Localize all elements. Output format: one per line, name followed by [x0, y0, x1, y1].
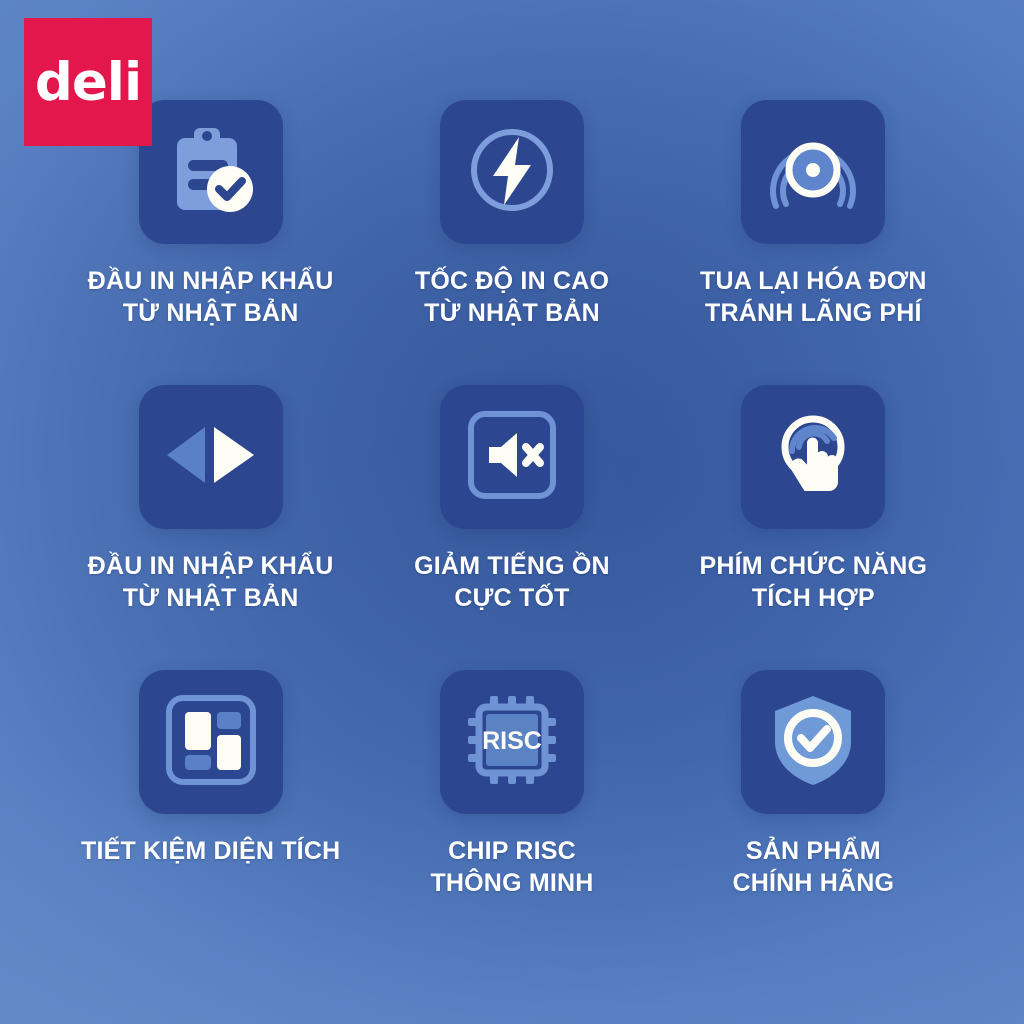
feature-item-print-speed: TỐC ĐỘ IN CAO TỪ NHẬT BẢN	[361, 100, 662, 385]
clipboard-check-icon	[161, 120, 261, 225]
feature-item-bidirectional: ĐẦU IN NHẬP KHẨU TỪ NHẬT BẢN	[60, 385, 361, 670]
feature-item-genuine-product: SẢN PHẨM CHÍNH HÃNG	[663, 670, 964, 955]
feature-icon-tile: RISC	[440, 670, 584, 814]
risc-chip-icon: RISC	[462, 690, 562, 795]
feature-icon-tile	[741, 670, 885, 814]
hand-tap-icon	[763, 405, 863, 510]
speaker-mute-icon	[462, 405, 562, 510]
lightning-bolt-icon	[462, 120, 562, 225]
layout-blocks-icon	[161, 690, 261, 795]
feature-icon-tile	[440, 385, 584, 529]
feature-label: GIẢM TIẾNG ỒN CỰC TỐT	[414, 550, 610, 614]
feature-item-receipt-rewind: TUA LẠI HÓA ĐƠN TRÁNH LÃNG PHÍ	[663, 100, 964, 385]
feature-poster: deli ĐẦU IN NHẬP KHẨU TỪ NHẬT B	[0, 0, 1024, 1024]
bidirectional-arrows-icon	[161, 405, 261, 510]
feature-label: ĐẦU IN NHẬP KHẨU TỪ NHẬT BẢN	[88, 265, 334, 329]
feature-item-space-saving: TIẾT KIỆM DIỆN TÍCH	[60, 670, 361, 955]
feature-item-low-noise: GIẢM TIẾNG ỒN CỰC TỐT	[361, 385, 662, 670]
feature-label: PHÍM CHỨC NĂNG TÍCH HỢP	[699, 550, 927, 614]
feature-label: ĐẦU IN NHẬP KHẨU TỪ NHẬT BẢN	[88, 550, 334, 614]
chip-label: RISC	[482, 727, 542, 755]
feature-item-risc-chip: RISC CHIP RISC THÔNG MINH	[361, 670, 662, 955]
feature-grid: ĐẦU IN NHẬP KHẨU TỪ NHẬT BẢN TỐC ĐỘ IN C…	[60, 100, 964, 955]
feature-icon-tile	[440, 100, 584, 244]
paper-roll-rewind-icon	[763, 120, 863, 225]
feature-label: TỐC ĐỘ IN CAO TỪ NHẬT BẢN	[415, 265, 609, 329]
deli-logo-text: deli	[35, 56, 141, 109]
feature-label: TIẾT KIỆM DIỆN TÍCH	[81, 835, 340, 867]
deli-logo: deli	[24, 18, 152, 146]
feature-icon-tile	[139, 100, 283, 244]
feature-item-function-keys: PHÍM CHỨC NĂNG TÍCH HỢP	[663, 385, 964, 670]
shield-check-icon	[763, 690, 863, 795]
feature-label: SẢN PHẨM CHÍNH HÃNG	[732, 835, 894, 899]
feature-label: TUA LẠI HÓA ĐƠN TRÁNH LÃNG PHÍ	[700, 265, 927, 329]
feature-icon-tile	[139, 670, 283, 814]
feature-icon-tile	[741, 100, 885, 244]
feature-icon-tile	[741, 385, 885, 529]
feature-label: CHIP RISC THÔNG MINH	[430, 835, 593, 899]
feature-icon-tile	[139, 385, 283, 529]
